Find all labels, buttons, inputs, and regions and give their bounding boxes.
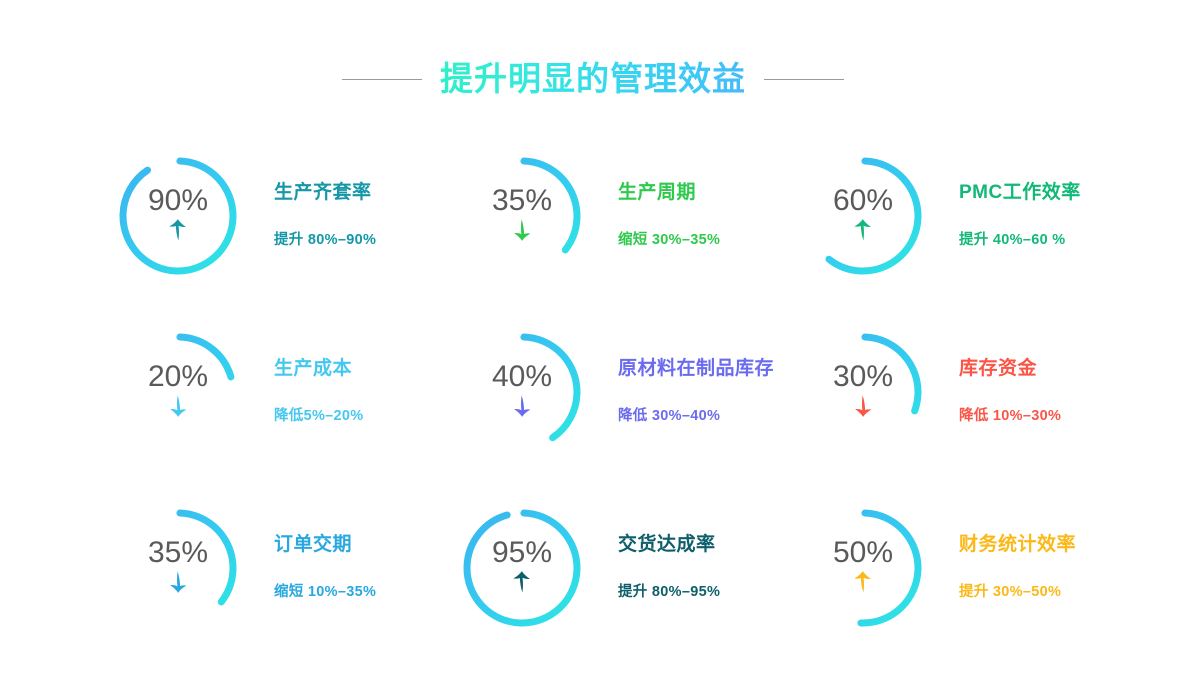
metric-subtitle: 提升 80%–90% <box>274 232 376 249</box>
metric-subtitle: 提升 30%–50% <box>959 584 1076 601</box>
slide-canvas: 提升明显的管理效益 90%生产齐套率提升 80%–90%35%生产周期缩短 30… <box>0 0 1186 684</box>
progress-ring-arc <box>806 511 920 625</box>
metric-text-block: 交货达成率提升 80%–95% <box>618 534 720 601</box>
metric-text-block: 财务统计效率提升 30%–50% <box>959 534 1076 601</box>
progress-ring: 90% <box>108 146 248 286</box>
metric-text-block: 原材料在制品库存降低 30%–40% <box>618 358 774 425</box>
progress-ring-arc <box>121 335 235 449</box>
metric-subtitle: 降低5%–20% <box>274 408 363 425</box>
progress-ring-arc <box>465 159 579 273</box>
metric-title: 财务统计效率 <box>959 534 1076 557</box>
metric-card: 60%PMC工作效率提升 40%–60 % <box>793 128 1139 304</box>
metric-text-block: 订单交期缩短 10%–35% <box>274 534 376 601</box>
progress-ring-arc <box>465 511 579 625</box>
metrics-grid: 90%生产齐套率提升 80%–90%35%生产周期缩短 30%–35%60%PM… <box>0 120 1186 660</box>
metric-subtitle: 降低 30%–40% <box>618 408 774 425</box>
progress-ring: 60% <box>793 146 933 286</box>
slide-header: 提升明显的管理效益 <box>0 52 1186 106</box>
metric-text-block: 生产成本降低5%–20% <box>274 358 363 425</box>
metric-title: 原材料在制品库存 <box>618 358 774 381</box>
metric-card: 95%交货达成率提升 80%–95% <box>452 480 798 656</box>
progress-ring: 50% <box>793 498 933 638</box>
metric-subtitle: 提升 80%–95% <box>618 584 720 601</box>
metric-text-block: 生产周期缩短 30%–35% <box>618 182 720 249</box>
progress-ring: 95% <box>452 498 592 638</box>
metric-card: 90%生产齐套率提升 80%–90% <box>108 128 454 304</box>
progress-ring: 35% <box>452 146 592 286</box>
metric-card: 30%库存资金降低 10%–30% <box>793 304 1139 480</box>
metric-subtitle: 提升 40%–60 % <box>959 232 1081 249</box>
progress-ring-arc <box>121 511 235 625</box>
metric-subtitle: 缩短 10%–35% <box>274 584 376 601</box>
metric-card: 20%生产成本降低5%–20% <box>108 304 454 480</box>
metric-card: 50%财务统计效率提升 30%–50% <box>793 480 1139 656</box>
progress-ring: 20% <box>108 322 248 462</box>
metric-text-block: 库存资金降低 10%–30% <box>959 358 1061 425</box>
header-rule-left <box>342 79 422 80</box>
progress-ring-arc <box>465 335 579 449</box>
metric-subtitle: 降低 10%–30% <box>959 408 1061 425</box>
metric-card: 40%原材料在制品库存降低 30%–40% <box>452 304 798 480</box>
header-rule-right <box>764 79 844 80</box>
progress-ring-arc <box>806 335 920 449</box>
progress-ring: 40% <box>452 322 592 462</box>
metric-title: 交货达成率 <box>618 534 720 557</box>
metric-subtitle: 缩短 30%–35% <box>618 232 720 249</box>
metric-title: 生产成本 <box>274 358 363 381</box>
progress-ring: 30% <box>793 322 933 462</box>
progress-ring: 35% <box>108 498 248 638</box>
metric-title: 库存资金 <box>959 358 1061 381</box>
metric-title: 生产齐套率 <box>274 182 376 205</box>
metric-text-block: PMC工作效率提升 40%–60 % <box>959 182 1081 249</box>
metric-title: 订单交期 <box>274 534 376 557</box>
metric-title: PMC工作效率 <box>959 182 1081 205</box>
progress-ring-arc <box>121 159 235 273</box>
progress-ring-arc <box>806 159 920 273</box>
metric-text-block: 生产齐套率提升 80%–90% <box>274 182 376 249</box>
metric-card: 35%生产周期缩短 30%–35% <box>452 128 798 304</box>
metric-title: 生产周期 <box>618 182 720 205</box>
page-title: 提升明显的管理效益 <box>440 58 746 99</box>
metric-card: 35%订单交期缩短 10%–35% <box>108 480 454 656</box>
